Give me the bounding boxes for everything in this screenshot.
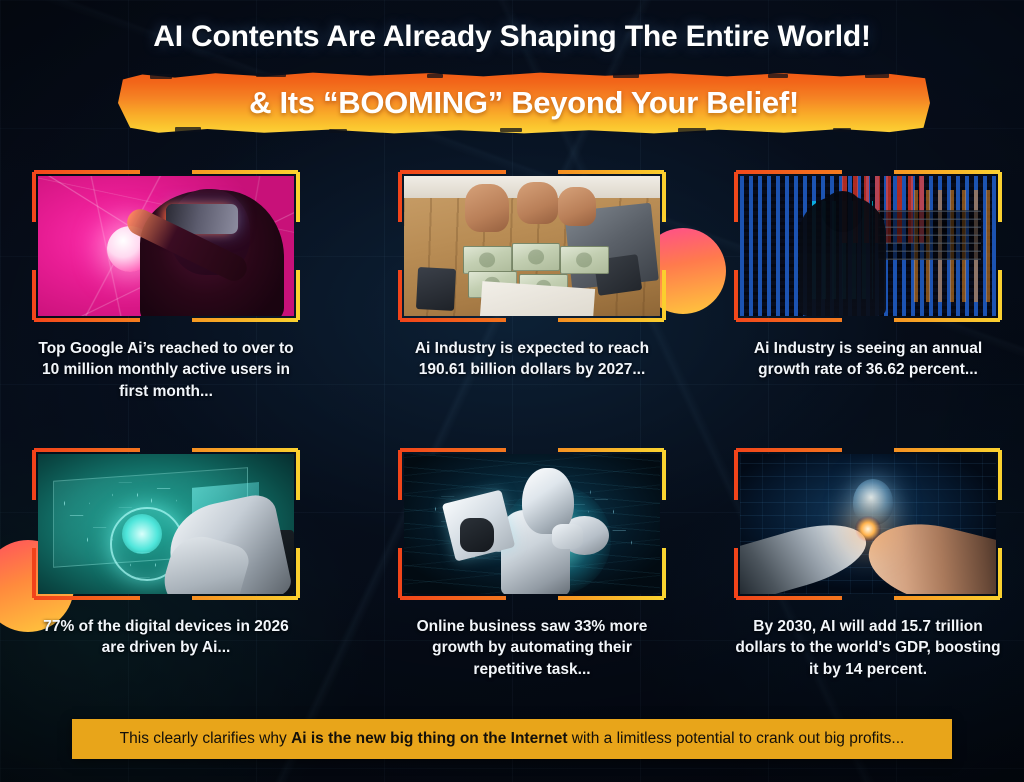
stat-card-4: 77% of the digital devices in 2026 are d… (32, 448, 300, 659)
page-headline: AI Contents Are Already Shaping The Enti… (0, 20, 1024, 54)
stat-card-5: Online business saw 33% more growth by a… (398, 448, 666, 680)
card-frame (734, 170, 1002, 322)
card-frame (32, 448, 300, 600)
booming-banner: & Its “BOOMING” Beyond Your Belief! (118, 72, 930, 134)
card-frame (398, 448, 666, 600)
card-caption: 77% of the digital devices in 2026 are d… (32, 616, 300, 659)
footer-suffix: with a limitless potential to crank out … (567, 730, 904, 747)
banner-label: & Its “BOOMING” Beyond Your Belief! (118, 72, 930, 134)
card-caption: Top Google Ai’s reached to over to 10 mi… (32, 338, 300, 402)
stat-card-1: Top Google Ai’s reached to over to 10 mi… (32, 170, 300, 402)
card-image-data-wall (740, 176, 996, 316)
card-image-money-desk (404, 176, 660, 316)
card-caption: Online business saw 33% more growth by a… (398, 616, 666, 680)
card-caption: Ai Industry is expected to reach 190.61 … (398, 338, 666, 381)
card-image-vr-woman (38, 176, 294, 316)
card-frame (32, 170, 300, 322)
stat-card-2: Ai Industry is expected to reach 190.61 … (398, 170, 666, 381)
card-frame (398, 170, 666, 322)
footer-emphasis: Ai is the new big thing on the Internet (291, 730, 567, 747)
stat-card-3: Ai Industry is seeing an annual growth r… (734, 170, 1002, 381)
card-image-hands-touch (740, 454, 996, 594)
card-image-robot-hud (38, 454, 294, 594)
stat-card-6: By 2030, AI will add 15.7 trillion dolla… (734, 448, 1002, 680)
card-image-robot-tablet (404, 454, 660, 594)
footer-prefix: This clearly clarifies why (120, 730, 291, 747)
card-frame (734, 448, 1002, 600)
infographic-page: AI Contents Are Already Shaping The Enti… (0, 0, 1024, 782)
card-caption: Ai Industry is seeing an annual growth r… (734, 338, 1002, 381)
card-caption: By 2030, AI will add 15.7 trillion dolla… (734, 616, 1002, 680)
footer-banner: This clearly clarifies why Ai is the new… (72, 719, 952, 759)
footer-banner-text: This clearly clarifies why Ai is the new… (120, 731, 905, 747)
